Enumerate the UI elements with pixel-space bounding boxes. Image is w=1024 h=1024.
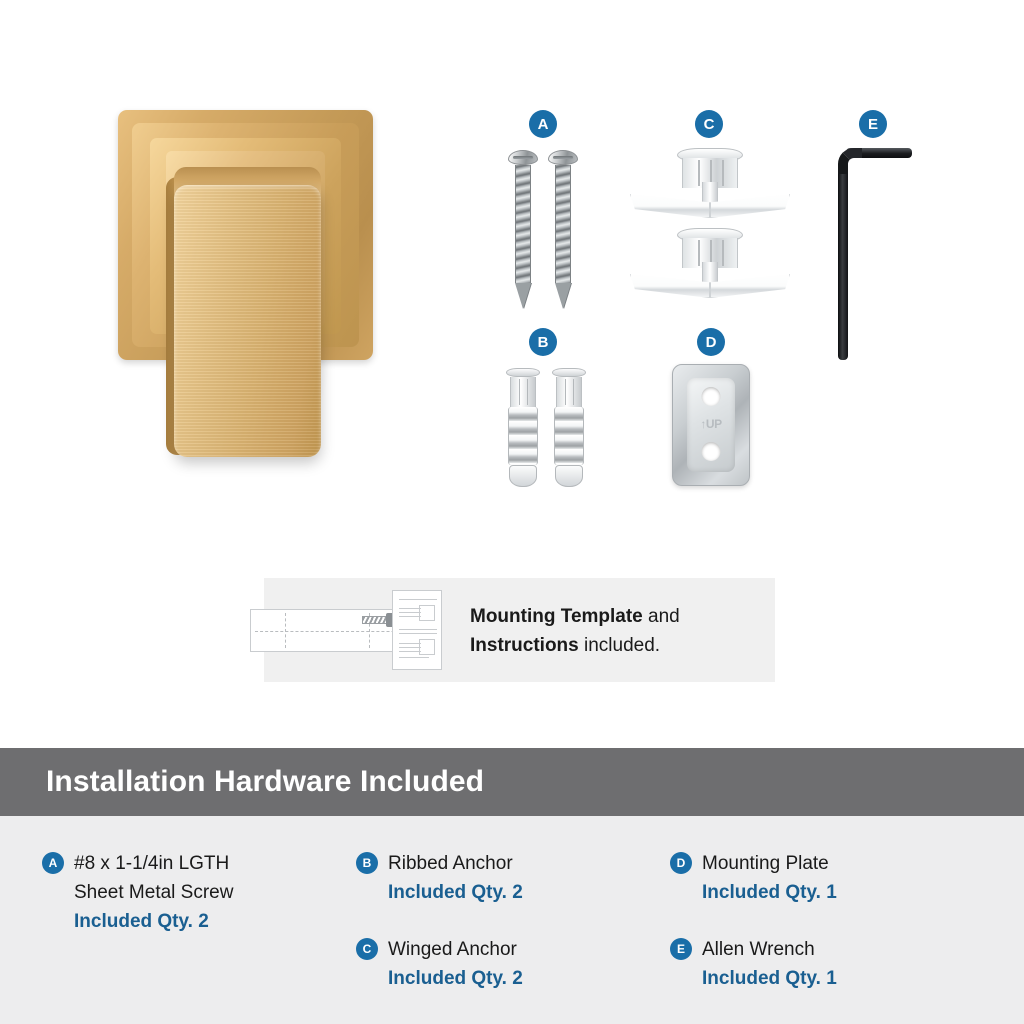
list-item: C Winged Anchor Included Qty. 2 [356, 936, 656, 994]
allen-wrench-elbow [838, 148, 862, 174]
winged-anchor-wing-left [630, 192, 710, 218]
legend-badge-e: E [670, 938, 692, 960]
allen-wrench-long-arm [838, 162, 848, 360]
mounting-plate-hole-top [702, 387, 721, 406]
legend-text-b: Ribbed Anchor Included Qty. 2 [388, 850, 656, 908]
legend-text-a: #8 x 1-1/4in LGTH Sheet Metal Screw Incl… [74, 850, 342, 937]
legend-text-d: Mounting Plate Included Qty. 1 [702, 850, 980, 908]
doc-line [399, 599, 437, 600]
screw-2 [553, 150, 573, 309]
callout-badge-c: C [695, 110, 723, 138]
legend-badge-a: A [42, 852, 64, 874]
winged-anchor-wing-left [630, 272, 710, 298]
doc-line [399, 629, 437, 630]
screw-tip [515, 283, 531, 309]
ribbed-anchor-cap [552, 368, 586, 377]
legend-column-2: B Ribbed Anchor Included Qty. 2 C Winged… [356, 850, 656, 1022]
screw-tip [555, 283, 571, 309]
doc-box [419, 639, 435, 655]
doc-line [399, 657, 429, 658]
doc-line [399, 612, 421, 613]
legend-qty-d: Included Qty. 1 [702, 879, 980, 908]
doc-line [399, 651, 421, 652]
illustration-area: A C [0, 0, 1024, 748]
ribbed-anchor-cap [506, 368, 540, 377]
winged-anchor-slot [698, 240, 700, 266]
doc-line [399, 616, 421, 617]
winged-anchor-slot [722, 160, 724, 186]
doc-box [419, 605, 435, 621]
legend-qty-a: Included Qty. 2 [74, 908, 342, 937]
legend-text-c: Winged Anchor Included Qty. 2 [388, 936, 656, 994]
legend-badge-d: D [670, 852, 692, 874]
callout-badge-d: D [697, 328, 725, 356]
mounting-template-line-1: Mounting Template and [470, 602, 760, 631]
ribbed-anchor-1 [506, 368, 540, 487]
winged-anchor-2 [630, 228, 790, 308]
mounting-plate-image: ↑UP [672, 364, 750, 486]
drill-bit [362, 616, 388, 624]
legend-name-a: #8 x 1-1/4in LGTH Sheet Metal Screw [74, 850, 342, 908]
mounting-template-rest-1: and [643, 606, 680, 627]
winged-anchor-wing-right [710, 192, 790, 218]
doc-line [399, 643, 421, 644]
list-item: E Allen Wrench Included Qty. 1 [670, 936, 980, 994]
ribbed-anchor-neck [510, 377, 536, 407]
legend-badge-b: B [356, 852, 378, 874]
legend-name-d: Mounting Plate [702, 850, 980, 879]
winged-anchor-wing-right [710, 272, 790, 298]
mounting-template-panel: Mounting Template and Instructions inclu… [264, 578, 775, 682]
legend-badge-c: C [356, 938, 378, 960]
ribbed-anchor-foot [555, 465, 583, 487]
callout-badge-a: A [529, 110, 557, 138]
legend-name-c: Winged Anchor [388, 936, 656, 965]
product-cabinet-knob-image [110, 105, 385, 465]
winged-anchor-slot [698, 160, 700, 186]
allen-wrench-image [838, 148, 912, 360]
legend-qty-c: Included Qty. 2 [388, 965, 656, 994]
legend-column-3: D Mounting Plate Included Qty. 1 E Allen… [670, 850, 980, 1022]
screw-head [508, 150, 538, 165]
legend-text-e: Allen Wrench Included Qty. 1 [702, 936, 980, 994]
doc-line [399, 633, 437, 634]
section-header-band: Installation Hardware Included [0, 748, 1024, 816]
screw-shaft [555, 165, 571, 283]
product-hardware-infographic: A C [0, 0, 1024, 1024]
screw-head [548, 150, 578, 165]
mounting-template-line-2: Instructions included. [470, 631, 760, 660]
screw-1 [513, 150, 533, 309]
up-arrow-emboss: ↑UP [700, 417, 721, 431]
doc-line [399, 647, 421, 648]
ribbed-anchor-2 [552, 368, 586, 487]
mounting-template-text: Mounting Template and Instructions inclu… [470, 602, 760, 661]
knob-face [174, 185, 321, 457]
legend-column-1: A #8 x 1-1/4in LGTH Sheet Metal Screw In… [42, 850, 342, 965]
mounting-template-bold-1: Mounting Template [470, 606, 643, 627]
page-title: Installation Hardware Included [46, 765, 484, 799]
instructions-document-icon [392, 590, 442, 670]
mounting-template-bold-2: Instructions [470, 635, 579, 656]
mounting-plate-hole-bottom [702, 442, 721, 461]
ribbed-anchor-ribs [508, 407, 538, 465]
screw-shaft [515, 165, 531, 283]
list-item: D Mounting Plate Included Qty. 1 [670, 850, 980, 908]
ribbed-anchor-neck [556, 377, 582, 407]
callout-badge-e: E [859, 110, 887, 138]
winged-anchor-1 [630, 148, 790, 228]
hardware-legend: A #8 x 1-1/4in LGTH Sheet Metal Screw In… [0, 816, 1024, 1024]
ribbed-anchor-foot [509, 465, 537, 487]
doc-line [399, 608, 421, 609]
legend-qty-b: Included Qty. 2 [388, 879, 656, 908]
mounting-template-rest-2: included. [579, 635, 660, 656]
list-item: A #8 x 1-1/4in LGTH Sheet Metal Screw In… [42, 850, 342, 937]
legend-name-b: Ribbed Anchor [388, 850, 656, 879]
callout-badge-b: B [529, 328, 557, 356]
legend-name-e: Allen Wrench [702, 936, 980, 965]
winged-anchor-slot [722, 240, 724, 266]
list-item: B Ribbed Anchor Included Qty. 2 [356, 850, 656, 908]
legend-qty-e: Included Qty. 1 [702, 965, 980, 994]
ribbed-anchor-ribs [554, 407, 584, 465]
